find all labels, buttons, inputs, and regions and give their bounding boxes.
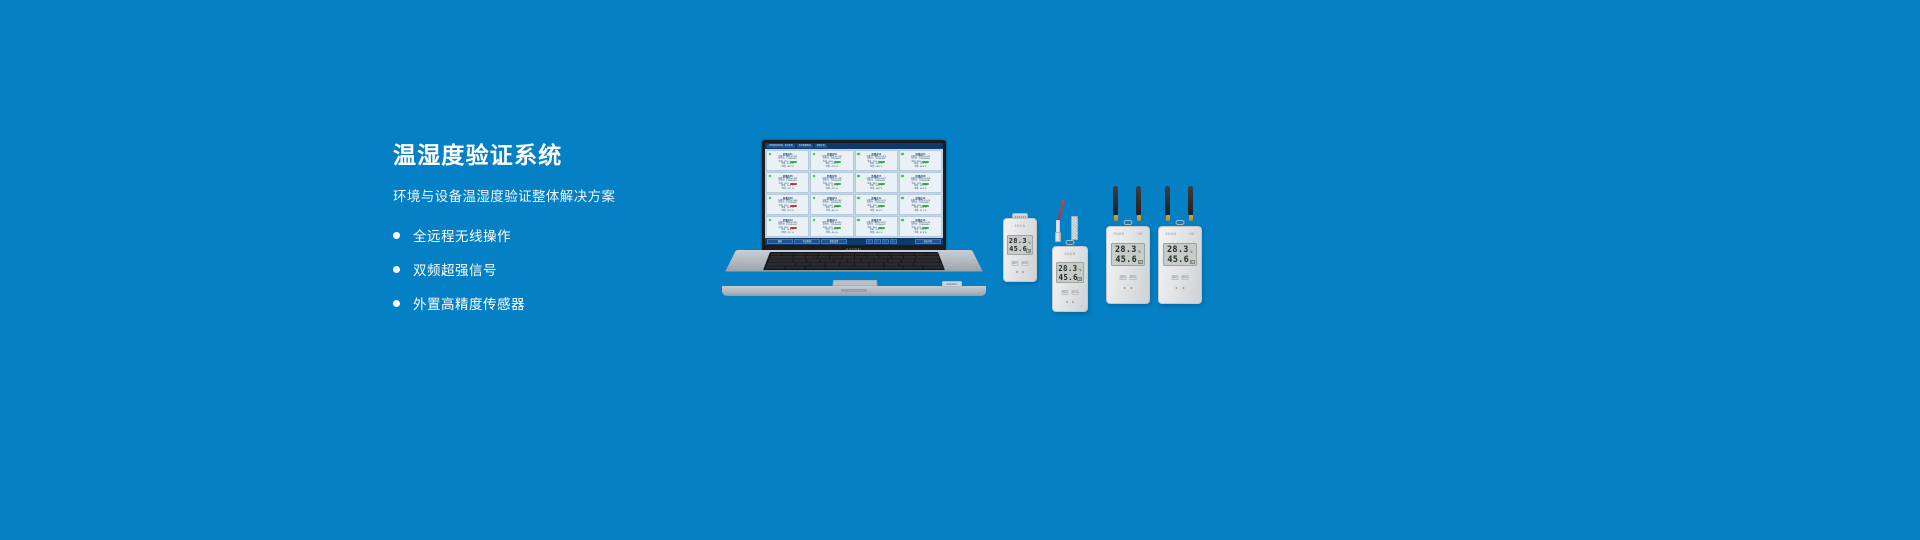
- key-enter[interactable]: [915, 259, 941, 262]
- device-wireless-logger-1: ENON H8 28.3 ℃ 45.6 % SET REC: [1106, 186, 1150, 304]
- key[interactable]: [866, 253, 877, 255]
- key-caps[interactable]: [768, 259, 794, 262]
- lcd-temperature-value: 28.3: [1167, 245, 1189, 255]
- key[interactable]: [901, 259, 914, 262]
- device-indicator-row: [1176, 287, 1185, 289]
- card-status-led-icon: [901, 175, 904, 178]
- card-humidity-value: 49.4 %: [876, 210, 882, 213]
- device-indicator-row: [1016, 271, 1024, 273]
- card-humidity-label: 湿度:: [914, 188, 919, 191]
- status-led-icon: [1176, 287, 1178, 289]
- monitor-card[interactable]: 监测点04设备号:测点-ST-004序列号:T22050004电量:88%温度:…: [899, 150, 942, 171]
- card-humidity-label: 湿度:: [782, 166, 787, 169]
- device-keypad[interactable]: SET REC: [1012, 261, 1029, 266]
- card-humidity: 湿度:51.7 %: [769, 232, 806, 235]
- device-indicator-row: [1124, 287, 1133, 289]
- lcd-status-badge-icon: [1190, 260, 1195, 264]
- key[interactable]: [869, 263, 883, 266]
- card-humidity-label: 湿度:: [826, 210, 831, 213]
- device-keypad[interactable]: SET REC: [1120, 275, 1137, 280]
- feature-item: 双频超强信号: [393, 259, 723, 279]
- lcd-temperature-value: 28.3: [1058, 264, 1077, 273]
- monitor-card[interactable]: 监测点10设备号:测点-ST-010序列号:T22050010电量:94%温度:…: [810, 194, 853, 215]
- exit-button[interactable]: 退出系统: [915, 239, 941, 244]
- device-brand-row: ENON H8: [1159, 232, 1201, 236]
- card-humidity: 湿度:48.8 %: [858, 188, 895, 191]
- device-keypad[interactable]: SET REC: [1172, 275, 1189, 280]
- card-humidity-label: 湿度:: [870, 166, 875, 169]
- status-led-icon: [1016, 271, 1018, 273]
- key[interactable]: [825, 263, 839, 266]
- feature-label: 全远程无线操作: [413, 225, 511, 245]
- card-humidity: 湿度:49.0 %: [858, 166, 895, 169]
- card-humidity-label: 湿度:: [826, 188, 831, 191]
- key[interactable]: [793, 256, 805, 259]
- key[interactable]: [855, 263, 869, 266]
- pager-page-2[interactable]: 2: [874, 239, 881, 244]
- card-humidity-value: 51.7 %: [787, 232, 793, 235]
- monitor-card[interactable]: 监测点07设备号:测点-ST-007序列号:T22050007电量:85%温度:…: [855, 172, 898, 193]
- card-humidity: 湿度:48.1 %: [813, 210, 850, 213]
- monitor-card[interactable]: 监测点12设备号:测点-ST-012序列号:T22050012电量:86%温度:…: [899, 194, 942, 215]
- laptop-lid: 温湿度验证系统 · 实时监控 历史数据查询 报警记录 监测点01设备号:测点-S…: [762, 140, 946, 252]
- device-data-logger-external-probe: ENON 28.3 ℃ 45.6 % SET REC: [1052, 200, 1088, 312]
- export-button[interactable]: 导出数据: [794, 239, 820, 244]
- key[interactable]: [830, 253, 841, 255]
- card-humidity: 湿度:48.3 %: [769, 166, 806, 169]
- hanger-hole: [1176, 220, 1185, 225]
- device-brand-label: ENON: [1053, 252, 1087, 256]
- key[interactable]: [782, 253, 794, 255]
- feature-item: 全远程无线操作: [393, 225, 723, 245]
- key[interactable]: [834, 259, 847, 262]
- antenna-right-icon: [1188, 186, 1193, 216]
- key[interactable]: [821, 259, 834, 262]
- device-body: ENON H8 28.3 ℃ 45.6 % SET REC: [1158, 226, 1202, 304]
- key[interactable]: [884, 263, 898, 266]
- card-humidity-label: 湿度:: [870, 210, 875, 213]
- lcd-display: 28.3 ℃ 45.6 %: [1056, 262, 1084, 283]
- status-led-icon: [1022, 271, 1024, 273]
- page-title: 温湿度验证系统: [393, 142, 723, 170]
- monitor-card[interactable]: 监测点06设备号:测点-ST-006序列号:T22050006电量:87%温度:…: [810, 172, 853, 193]
- device-key-rec[interactable]: REC: [1022, 261, 1029, 266]
- feature-item: 外置高精度传感器: [393, 293, 723, 313]
- key[interactable]: [794, 259, 807, 262]
- key-tab[interactable]: [769, 256, 792, 259]
- lcd-temperature-value: 28.3: [1009, 237, 1027, 245]
- card-humidity-label: 湿度:: [870, 232, 875, 235]
- key[interactable]: [818, 253, 829, 255]
- card-humidity-value: 49.6 %: [876, 232, 882, 235]
- status-led-icon: [1066, 301, 1068, 303]
- lcd-humidity-value: 45.6: [1009, 245, 1027, 253]
- laptop-screen: 温湿度验证系统 · 实时监控 历史数据查询 报警记录 监测点01设备号:测点-S…: [765, 143, 943, 245]
- monitor-card[interactable]: 监测点02设备号:测点-ST-002序列号:T22050002电量:93%温度:…: [810, 150, 853, 171]
- device-model-label: H8: [1138, 232, 1143, 236]
- device-body: ENON H8 28.3 ℃ 45.6 % SET REC: [1106, 226, 1150, 304]
- card-humidity-value: 47.5 %: [832, 188, 838, 191]
- app-tab-history[interactable]: 历史数据查询: [797, 144, 813, 148]
- card-humidity-label: 湿度:: [782, 188, 787, 191]
- card-status-led-icon: [769, 197, 772, 200]
- feature-label: 外置高精度传感器: [413, 293, 525, 313]
- bullet-dot-icon: [393, 266, 400, 273]
- monitor-card[interactable]: 监测点05设备号:测点-ST-005序列号:T22050005电量:90%温度:…: [766, 172, 809, 193]
- pager-page-1[interactable]: 1: [866, 239, 873, 244]
- device-brand-row: ENON H8: [1107, 232, 1149, 236]
- monitor-card[interactable]: 监测点15设备号:测点-ST-015序列号:T22050015电量:84%温度:…: [855, 216, 898, 237]
- card-humidity: 湿度:47.2 %: [902, 210, 939, 213]
- card-humidity-label: 湿度:: [826, 166, 831, 169]
- monitor-card[interactable]: 监测点13设备号:测点-ST-013序列号:T22050013电量:83%温度:…: [766, 216, 809, 237]
- device-key-set[interactable]: SET: [1120, 275, 1127, 280]
- card-humidity-value: 47.2 %: [920, 210, 926, 213]
- device-keypad[interactable]: SET REC: [1062, 290, 1079, 295]
- device-key-rec[interactable]: REC: [1182, 275, 1189, 280]
- probe-cable: [1057, 199, 1064, 223]
- key[interactable]: [805, 256, 817, 259]
- key[interactable]: [807, 259, 820, 262]
- device-data-logger-compact: ENON 28.3 ℃ 45.6 % SET REC: [1003, 218, 1037, 282]
- card-humidity-value: 48.0 %: [832, 232, 838, 235]
- key[interactable]: [794, 253, 806, 255]
- card-humidity-label: 湿度:: [914, 210, 919, 213]
- key[interactable]: [848, 259, 860, 262]
- key-shift-left[interactable]: [766, 263, 794, 266]
- key-arrow-right[interactable]: [923, 266, 943, 269]
- card-status-led-icon: [857, 153, 860, 156]
- card-status-led-icon: [857, 219, 860, 222]
- card-status-led-icon: [769, 175, 772, 178]
- key[interactable]: [840, 263, 854, 266]
- card-humidity-value: 47.8 %: [920, 232, 926, 235]
- monitor-card[interactable]: 监测点11设备号:测点-ST-011序列号:T22050011电量:89%温度:…: [855, 194, 898, 215]
- card-humidity-value: 52.1 %: [787, 188, 793, 191]
- card-status-led-icon: [901, 219, 904, 222]
- device-key-rec[interactable]: REC: [1072, 290, 1079, 295]
- key[interactable]: [842, 256, 853, 259]
- app-bottombar: 刷新 导出数据 参数设置 1 2 3 4 退出系统: [765, 238, 943, 245]
- key[interactable]: [770, 253, 782, 255]
- key-alt[interactable]: [805, 266, 824, 269]
- key-backspace[interactable]: [916, 256, 939, 259]
- feature-list: 全远程无线操作 双频超强信号 外置高精度传感器: [393, 225, 723, 313]
- key[interactable]: [830, 256, 841, 259]
- monitor-card[interactable]: 监测点16设备号:测点-ST-016序列号:T22050016电量:90%温度:…: [899, 216, 942, 237]
- status-led-icon: [1183, 287, 1185, 289]
- key[interactable]: [806, 253, 817, 255]
- lcd-humidity-value: 45.6: [1115, 255, 1137, 265]
- key[interactable]: [879, 256, 891, 259]
- card-humidity-label: 湿度:: [782, 210, 787, 213]
- card-humidity-value: 48.6 %: [920, 166, 926, 169]
- key[interactable]: [855, 253, 866, 255]
- laptop-sticker: ENERGY: [942, 281, 962, 287]
- monitor-card[interactable]: 监测点01设备号:测点-ST-001序列号:T22050001电量:95%温度:…: [766, 150, 809, 171]
- card-status-led-icon: [769, 219, 772, 222]
- card-humidity: 湿度:49.4 %: [858, 210, 895, 213]
- hero-subtitle: 环境与设备温湿度验证整体解决方案: [393, 188, 723, 206]
- key[interactable]: [842, 253, 853, 255]
- lcd-temperature-line: 28.3 ℃: [1115, 245, 1141, 255]
- lcd-temperature-line: 28.3 ℃: [1011, 237, 1029, 245]
- key[interactable]: [891, 256, 903, 259]
- bullet-dot-icon: [393, 300, 400, 307]
- keyboard-row: [768, 259, 941, 262]
- key[interactable]: [875, 259, 888, 262]
- monitor-card[interactable]: 监测点03设备号:测点-ST-003序列号:T22050003电量:91%温度:…: [855, 150, 898, 171]
- card-humidity: 湿度:48.0 %: [813, 232, 850, 235]
- key[interactable]: [810, 263, 824, 266]
- lcd-humidity-value: 45.6: [1167, 255, 1189, 265]
- device-indicator-row: [1066, 301, 1074, 303]
- key[interactable]: [861, 259, 874, 262]
- keyboard-row: [769, 256, 939, 259]
- monitor-card[interactable]: 监测点14设备号:测点-ST-014序列号:T22050014电量:96%温度:…: [810, 216, 853, 237]
- pager-page-3[interactable]: 3: [882, 239, 889, 244]
- key[interactable]: [867, 256, 878, 259]
- card-humidity: 湿度:52.1 %: [769, 188, 806, 191]
- card-humidity: 湿度:47.5 %: [813, 188, 850, 191]
- card-humidity-value: 55.3 %: [787, 210, 793, 213]
- card-humidity-value: 48.8 %: [876, 188, 882, 191]
- key[interactable]: [890, 253, 901, 255]
- lcd-status-badge-icon: [1077, 277, 1082, 281]
- key[interactable]: [903, 256, 915, 259]
- lcd-humidity-value: 45.6: [1059, 273, 1078, 282]
- monitor-card[interactable]: 监测点08设备号:测点-ST-008序列号:T22050008电量:92%温度:…: [899, 172, 942, 193]
- key[interactable]: [914, 253, 926, 255]
- card-humidity: 湿度:47.8 %: [902, 232, 939, 235]
- key-alt-right[interactable]: [883, 266, 902, 269]
- hero-text-block: 温湿度验证系统 环境与设备温湿度验证整体解决方案 全远程无线操作 双频超强信号 …: [393, 142, 723, 313]
- monitor-card[interactable]: 监测点09设备号:测点-ST-009序列号:T22050009电量:80%温度:…: [766, 194, 809, 215]
- device-key-set[interactable]: SET: [1012, 261, 1019, 266]
- keyboard-row: [770, 253, 938, 255]
- probe-sensor-head: [1071, 216, 1078, 240]
- app-tab-realtime[interactable]: 温湿度验证系统 · 实时监控: [767, 144, 795, 148]
- key[interactable]: [926, 253, 938, 255]
- refresh-button[interactable]: 刷新: [767, 239, 793, 244]
- laptop-lid-notch: [841, 289, 867, 292]
- key-arrow-left[interactable]: [903, 266, 923, 269]
- probe-connector: [1055, 232, 1061, 242]
- key[interactable]: [878, 253, 889, 255]
- keyboard-row: [765, 266, 943, 269]
- lcd-status-badge-icon: [1138, 260, 1143, 264]
- card-humidity-value: 46.9 %: [920, 188, 926, 191]
- card-humidity: 湿度:46.9 %: [902, 188, 939, 191]
- key[interactable]: [888, 259, 901, 262]
- card-humidity-value: 47.9 %: [832, 166, 838, 169]
- pager-page-4[interactable]: 4: [890, 239, 897, 244]
- key-ctrl[interactable]: [765, 266, 785, 269]
- monitor-card-grid: 监测点01设备号:测点-ST-001序列号:T22050001电量:95%温度:…: [765, 149, 943, 238]
- card-humidity-value: 49.0 %: [876, 166, 882, 169]
- device-key-set[interactable]: SET: [1172, 275, 1179, 280]
- device-body: ENON 28.3 ℃ 45.6 % SET REC: [1052, 246, 1088, 312]
- keyboard-row: [766, 263, 941, 266]
- device-brand-label: ENON: [1114, 232, 1125, 236]
- card-humidity-label: 湿度:: [782, 232, 787, 235]
- key[interactable]: [902, 253, 914, 255]
- key[interactable]: [795, 263, 809, 266]
- card-status-led-icon: [769, 153, 772, 156]
- antenna-right-icon: [1136, 186, 1141, 216]
- lcd-status-badge-icon: [1026, 249, 1031, 253]
- device-body: ENON 28.3 ℃ 45.6 % SET REC: [1003, 218, 1037, 282]
- device-model-label: H8: [1190, 232, 1195, 236]
- device-key-rec[interactable]: REC: [1130, 275, 1137, 280]
- card-humidity-value: 48.1 %: [832, 210, 838, 213]
- card-humidity: 湿度:55.3 %: [769, 210, 806, 213]
- card-humidity-label: 湿度:: [914, 232, 919, 235]
- card-status-led-icon: [857, 197, 860, 200]
- lcd-display: 28.3 ℃ 45.6 %: [1111, 243, 1145, 266]
- device-key-set[interactable]: SET: [1062, 290, 1069, 295]
- bullet-dot-icon: [393, 232, 400, 239]
- lcd-temperature-line: 28.3 ℃: [1060, 264, 1080, 273]
- status-led-icon: [1131, 287, 1133, 289]
- key[interactable]: [899, 263, 913, 266]
- key-space[interactable]: [825, 266, 882, 269]
- key-shift-right[interactable]: [913, 263, 941, 266]
- lcd-display: 28.3 ℃ 45.6 %: [1163, 243, 1197, 266]
- card-humidity-label: 湿度:: [914, 166, 919, 169]
- key[interactable]: [855, 256, 866, 259]
- key-fn[interactable]: [785, 266, 805, 269]
- card-humidity: 湿度:48.6 %: [902, 166, 939, 169]
- card-humidity: 湿度:47.9 %: [813, 166, 850, 169]
- hanger-hole: [1066, 240, 1075, 245]
- antenna-left-icon: [1165, 186, 1170, 216]
- card-humidity-value: 48.3 %: [787, 166, 793, 169]
- card-status-led-icon: [857, 175, 860, 178]
- card-humidity-label: 湿度:: [870, 188, 875, 191]
- card-humidity: 湿度:49.6 %: [858, 232, 895, 235]
- laptop-product-image: 温湿度验证系统 · 实时监控 历史数据查询 报警记录 监测点01设备号:测点-S…: [720, 140, 988, 300]
- lcd-display: 28.3 ℃ 45.6 %: [1007, 235, 1033, 255]
- settings-button[interactable]: 参数设置: [821, 239, 847, 244]
- card-status-led-icon: [901, 197, 904, 200]
- antenna-left-icon: [1113, 186, 1118, 216]
- card-status-led-icon: [901, 153, 904, 156]
- feature-label: 双频超强信号: [413, 259, 497, 279]
- lcd-temperature-line: 28.3 ℃: [1167, 245, 1193, 255]
- lcd-temperature-value: 28.3: [1115, 245, 1137, 255]
- device-brand-label: ENON: [1004, 224, 1036, 228]
- hanger-hole: [1124, 220, 1133, 225]
- laptop-keyboard[interactable]: [763, 252, 945, 270]
- status-led-icon: [1072, 301, 1074, 303]
- card-humidity-label: 湿度:: [826, 232, 831, 235]
- app-tab-alarms[interactable]: 报警记录: [815, 144, 827, 148]
- device-wireless-logger-2: ENON H8 28.3 ℃ 45.6 % SET REC: [1158, 186, 1202, 304]
- status-led-icon: [1124, 287, 1126, 289]
- key[interactable]: [817, 256, 829, 259]
- device-brand-label: ENON: [1166, 232, 1177, 236]
